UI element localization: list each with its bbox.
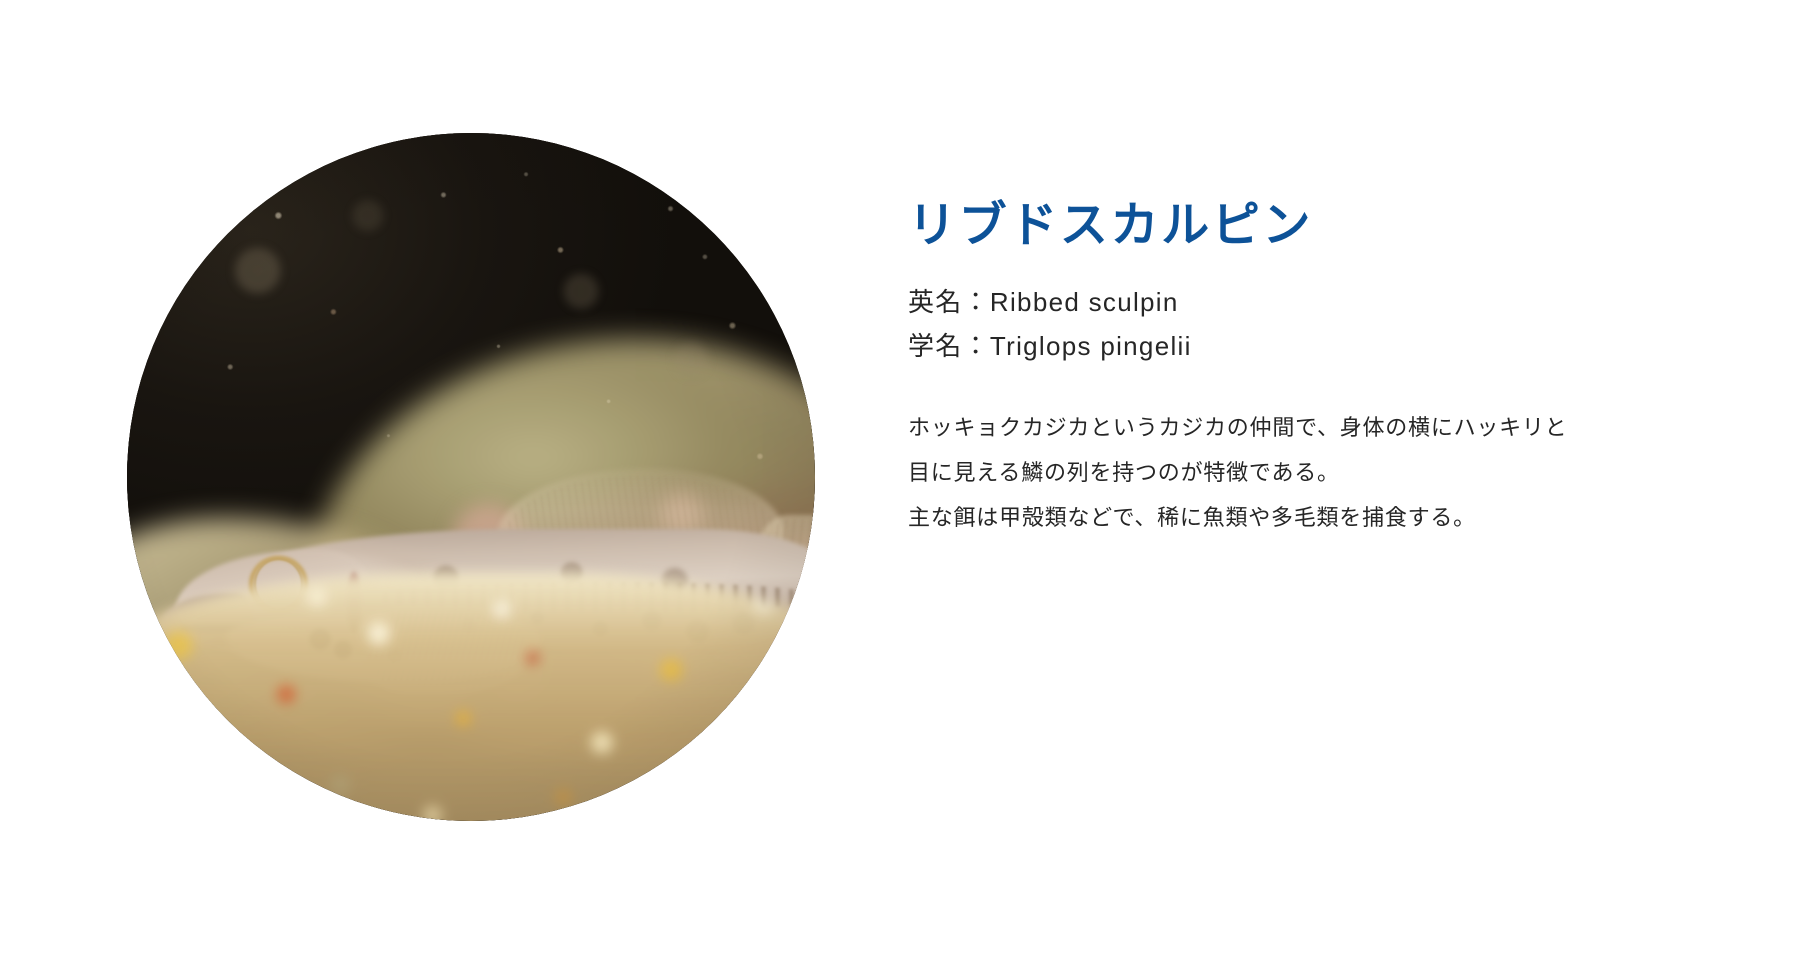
description-line-2: 目に見える鱗の列を持つのが特徴である。: [908, 450, 1738, 495]
species-photo-circle: [127, 133, 815, 821]
photo-vignette: [127, 133, 815, 821]
species-english-name: 英名：Ribbed sculpin: [908, 280, 1738, 325]
species-title: リブドスカルピン: [908, 196, 1738, 256]
species-description: ホッキョクカジカというカジカの仲間で、身体の横にハッキリと 目に見える鱗の列を持…: [908, 405, 1738, 540]
description-line-1: ホッキョクカジカというカジカの仲間で、身体の横にハッキリと: [908, 405, 1738, 450]
species-photo: [127, 133, 815, 821]
description-line-3: 主な餌は甲殻類などで、稀に魚類や多毛類を捕食する。: [908, 495, 1738, 540]
species-profile-page: リブドスカルピン 英名：Ribbed sculpin 学名：Triglops p…: [0, 0, 1820, 980]
species-info: リブドスカルピン 英名：Ribbed sculpin 学名：Triglops p…: [908, 196, 1738, 540]
species-meta-list: 英名：Ribbed sculpin 学名：Triglops pingelii: [908, 280, 1738, 369]
species-scientific-name: 学名：Triglops pingelii: [908, 324, 1738, 369]
